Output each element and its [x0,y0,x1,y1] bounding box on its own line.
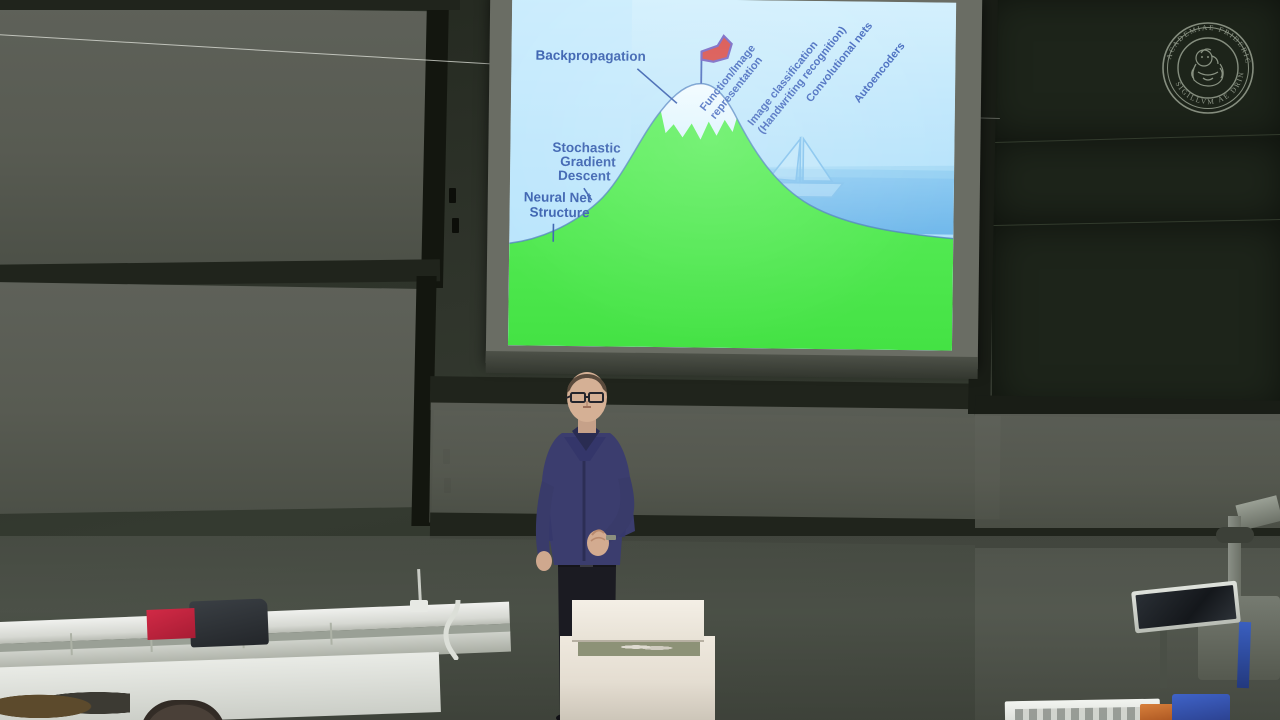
label-nn-structure-line1: Neural Net [524,189,592,205]
blue-equipment-strip [1237,622,1251,688]
wall-band-dark-upper [0,0,460,10]
slide-content: Backpropagation Stochastic Gradient Desc… [508,0,956,351]
label-nn-structure-line2: Structure [530,205,591,221]
red-bag [146,608,195,640]
fau-seal: ACADEMIAE FRIDERICO ALEXAN SIGILLVM AE D… [1160,20,1256,116]
lectern [560,600,715,720]
label-sgd-line3: Descent [558,168,611,184]
lecturer-gesturing-hand [587,530,609,556]
wall-panel-lower-left [0,282,422,514]
wall-panel-upper-left [0,6,432,268]
av-control-panel[interactable] [1005,699,1161,720]
microphone-head [410,600,428,612]
gooseneck-cable [440,600,462,660]
panel-hinge-lower [452,218,459,233]
wall-panel-under-screen [429,403,1000,530]
document-camera-head [1216,527,1254,543]
desk-item-blue [1172,694,1230,720]
projection-screen: Backpropagation Stochastic Gradient Desc… [486,0,983,369]
lectern-cables [608,642,678,652]
monitor-arm [1160,622,1167,688]
av-control-keys[interactable] [1015,707,1145,720]
panel-hinge-upper [449,188,456,203]
dark-bag [189,598,269,647]
floor-clutter [0,686,130,720]
lectern-lid [572,600,704,642]
chalkboard-panel-bottom-right [992,222,1280,412]
lecture-hall-screenshot: ACADEMIAE FRIDERICO ALEXAN SIGILLVM AE D… [0,0,1280,720]
chalkboard-panel-mid-right [990,138,1280,224]
label-backpropagation: Backpropagation [535,48,645,64]
av-monitor-screen[interactable] [1135,585,1236,629]
